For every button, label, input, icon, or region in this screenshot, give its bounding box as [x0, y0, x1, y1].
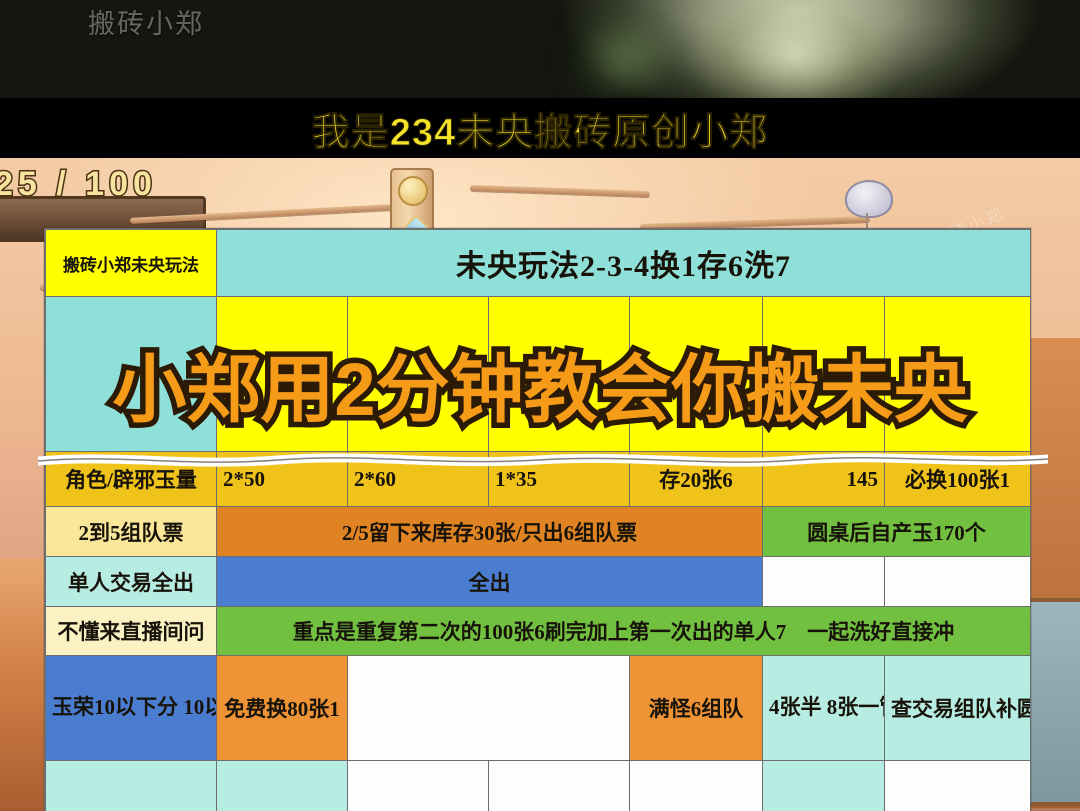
cell-jade-1: 2*50 [217, 452, 348, 507]
cell-note-middle: 重点是重复第二次的100张6刷完加上第一次出的单人7 一起洗好直接冲 [217, 607, 1031, 656]
tail-cell [763, 761, 885, 811]
cell-jade-5: 145 [763, 452, 885, 507]
row-label-jade: 角色/辟邪玉量 [46, 452, 217, 507]
banner-cell-label [46, 297, 217, 452]
table-row-title: 搬砖小郑未央玩法 未央玩法2-3-4换1存6洗7 [46, 230, 1031, 297]
cell-last-5: 4张半 8张一管 [763, 656, 885, 761]
banner-cell [489, 297, 630, 452]
table-row-tail [46, 761, 1031, 811]
banner-cell [630, 297, 763, 452]
table-row-team: 2到5组队票 2/5留下来库存30张/只出6组队票 圆桌后自产玉170个 [46, 507, 1031, 557]
banner-cell [348, 297, 489, 452]
banner-cell [217, 297, 348, 452]
cell-jade-3: 1*35 [489, 452, 630, 507]
balloon-icon [845, 180, 893, 218]
corner-label: 搬砖小郑未央玩法 [46, 230, 217, 297]
cell-team-right: 圆桌后自产玉170个 [763, 507, 1031, 557]
table-row-banner [46, 297, 1031, 452]
video-watermark: 搬砖小郑 [88, 2, 204, 41]
tail-cell [630, 761, 763, 811]
row-label-note: 不懂来直播间问 [46, 607, 217, 656]
cell-last-empty [348, 656, 630, 761]
video-frame-top: 搬砖小郑 [0, 0, 1080, 98]
cell-solo-6 [885, 557, 1031, 607]
cell-last-1: 免费换80张1 [217, 656, 348, 761]
cell-team-middle: 2/5留下来库存30张/只出6组队票 [217, 507, 763, 557]
cell-jade-2: 2*60 [348, 452, 489, 507]
hud-counter: 25 / 100 [0, 165, 157, 204]
playbook-table: 搬砖小郑未央玩法 未央玩法2-3-4换1存6洗7 角色/辟邪玉量 2*50 [44, 228, 1031, 811]
tail-cell [489, 761, 630, 811]
caption-bar: 我是234未央搬砖原创小郑 [0, 98, 1080, 158]
table-row-note: 不懂来直播间问 重点是重复第二次的100张6刷完加上第一次出的单人7 一起洗好直… [46, 607, 1031, 656]
video-highlight-secondary [560, 0, 690, 98]
table-row-last: 玉荣10以下分 10以上满怀 免费换80张1 满怪6组队 4张半 8张一管 查交… [46, 656, 1031, 761]
row-label-solo: 单人交易全出 [46, 557, 217, 607]
row-label-last: 玉荣10以下分 10以上满怀 [46, 656, 217, 761]
cell-jade-6: 必换100张1 [885, 452, 1031, 507]
cell-solo-middle: 全出 [217, 557, 763, 607]
cell-jade-4: 存20张6 [630, 452, 763, 507]
cell-solo-5 [763, 557, 885, 607]
tail-cell [46, 761, 217, 811]
banner-cell [763, 297, 885, 452]
tail-cell [348, 761, 489, 811]
tail-cell [885, 761, 1031, 811]
pillar-orb [398, 176, 428, 206]
tail-cell [217, 761, 348, 811]
caption-text: 我是234未央搬砖原创小郑 [312, 101, 768, 156]
table-row-solo: 单人交易全出 全出 [46, 557, 1031, 607]
cell-last-4: 满怪6组队 [630, 656, 763, 761]
table-row-jade: 角色/辟邪玉量 2*50 2*60 1*35 存20张6 145 必换100张1 [46, 452, 1031, 507]
banner-cell [885, 297, 1031, 452]
row-label-team: 2到5组队票 [46, 507, 217, 557]
cell-last-6: 查交易组队补圆桌票数 [885, 656, 1031, 761]
table-title: 未央玩法2-3-4换1存6洗7 [217, 230, 1031, 297]
screenshot-root: 搬砖小郑 我是234未央搬砖原创小郑 搬砖小郑 搬砖小郑 搬砖小郑 搬砖小郑 搬… [0, 0, 1080, 811]
